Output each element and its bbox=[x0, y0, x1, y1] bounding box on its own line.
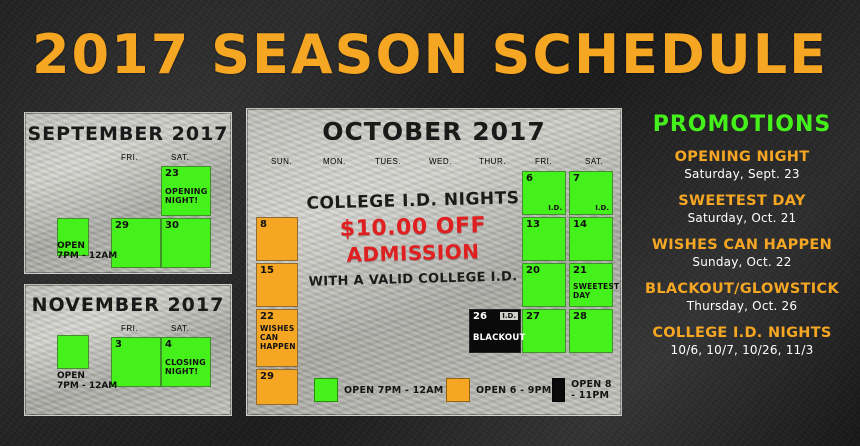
october-cell-14[interactable]: 14 bbox=[569, 217, 613, 261]
day-number: 14 bbox=[573, 219, 587, 230]
id-night-tag: I.D. bbox=[548, 204, 562, 212]
september-cell-30[interactable]: 30 bbox=[161, 218, 211, 268]
october-title: OCTOBER 2017 bbox=[247, 117, 621, 146]
legend-label-black: OPEN 8 - 11PM bbox=[571, 379, 612, 401]
day-number: 4 bbox=[165, 339, 172, 350]
october-cell-15[interactable]: 15 bbox=[256, 263, 298, 307]
september-open-label: OPEN 7PM - 12AM bbox=[57, 241, 117, 261]
october-cell-27[interactable]: 27 bbox=[522, 309, 566, 353]
october-dow-sat: SAT. bbox=[585, 157, 603, 166]
day-note: BLACKOUT bbox=[473, 334, 518, 343]
legend-item-green: OPEN 7PM - 12AM bbox=[314, 378, 443, 402]
promotion-date: Saturday, Sept. 23 bbox=[630, 167, 854, 182]
promotion-date: 10/6, 10/7, 10/26, 11/3 bbox=[630, 343, 854, 358]
promotion-name: COLLEGE I.D. NIGHTS bbox=[630, 325, 854, 342]
day-number: 6 bbox=[526, 173, 533, 184]
legend-swatch-orange-icon bbox=[446, 378, 470, 402]
id-night-tag: I.D. bbox=[595, 204, 609, 212]
day-number: 30 bbox=[165, 220, 179, 231]
promotion-item: OPENING NIGHT Saturday, Sept. 23 bbox=[630, 149, 854, 182]
october-cell-28[interactable]: 28 bbox=[569, 309, 613, 353]
promotion-name: BLACKOUT/GLOWSTICK bbox=[630, 281, 854, 298]
promotions-section: PROMOTIONS OPENING NIGHT Saturday, Sept.… bbox=[630, 112, 854, 369]
november-cell-3[interactable]: 3 bbox=[111, 337, 161, 387]
october-dow-fri: FRI. bbox=[535, 157, 552, 166]
november-panel: NOVEMBER 2017 FRI. SAT. 3 4 CLOSING NIGH… bbox=[24, 284, 232, 416]
october-cell-26[interactable]: 26 I.D. BLACKOUT bbox=[469, 309, 521, 353]
day-number: 20 bbox=[526, 265, 540, 276]
day-note: OPENING NIGHT! bbox=[165, 187, 208, 205]
promotion-item: BLACKOUT/GLOWSTICK Thursday, Oct. 26 bbox=[630, 281, 854, 314]
day-number: 23 bbox=[165, 168, 179, 179]
legend-swatch-green-icon bbox=[314, 378, 338, 402]
day-number: 3 bbox=[115, 339, 122, 350]
promotion-date: Thursday, Oct. 26 bbox=[630, 299, 854, 314]
october-cell-22[interactable]: 22 WISHES CAN HAPPEN bbox=[256, 309, 298, 367]
promotion-date: Saturday, Oct. 21 bbox=[630, 211, 854, 226]
day-number: 21 bbox=[573, 265, 587, 276]
page-title: 2017 SEASON SCHEDULE bbox=[0, 28, 860, 82]
october-dow-mon: MON. bbox=[323, 157, 346, 166]
september-cell-23[interactable]: 23 OPENING NIGHT! bbox=[161, 166, 211, 216]
september-dow-sat: SAT. bbox=[171, 153, 189, 162]
day-number: 15 bbox=[260, 265, 274, 276]
november-cell-blank[interactable] bbox=[57, 335, 89, 369]
september-title: SEPTEMBER 2017 bbox=[25, 123, 231, 145]
legend-item-orange: OPEN 6 - 9PM bbox=[446, 378, 551, 402]
legend-swatch-black-icon bbox=[552, 378, 565, 402]
legend-item-black: OPEN 8 - 11PM bbox=[552, 378, 612, 402]
day-number: 8 bbox=[260, 219, 267, 230]
promotion-name: OPENING NIGHT bbox=[630, 149, 854, 166]
poster-canvas: 2017 SEASON SCHEDULE SEPTEMBER 2017 FRI.… bbox=[0, 0, 860, 446]
day-note: SWEETEST DAY bbox=[573, 282, 610, 300]
id-night-tag: I.D. bbox=[500, 312, 518, 320]
day-number: 7 bbox=[573, 173, 580, 184]
legend-label-green: OPEN 7PM - 12AM bbox=[344, 385, 443, 396]
october-cell-6[interactable]: 6 I.D. bbox=[522, 171, 566, 215]
promotion-name: SWEETEST DAY bbox=[630, 193, 854, 210]
day-number: 26 bbox=[473, 311, 487, 322]
day-number: 22 bbox=[260, 311, 274, 322]
legend: OPEN 7PM - 12AM OPEN 6 - 9PM OPEN 8 - 11… bbox=[256, 378, 612, 404]
day-note: WISHES CAN HAPPEN bbox=[260, 324, 295, 351]
september-panel: SEPTEMBER 2017 FRI. SAT. 23 OPENING NIGH… bbox=[24, 112, 232, 274]
november-title: NOVEMBER 2017 bbox=[25, 294, 231, 316]
october-cell-8[interactable]: 8 bbox=[256, 217, 298, 261]
discount-condition: WITH A VALID COLLEGE I.D. bbox=[303, 269, 523, 290]
day-number: 29 bbox=[115, 220, 129, 231]
october-cell-21[interactable]: 21 SWEETEST DAY bbox=[569, 263, 613, 307]
october-center-promo: COLLEGE I.D. NIGHTS $10.00 OFF ADMISSION… bbox=[303, 191, 523, 287]
october-cell-13[interactable]: 13 bbox=[522, 217, 566, 261]
october-cell-7[interactable]: 7 I.D. bbox=[569, 171, 613, 215]
day-number: 28 bbox=[573, 311, 587, 322]
october-cell-20[interactable]: 20 bbox=[522, 263, 566, 307]
september-dow-fri: FRI. bbox=[121, 153, 138, 162]
discount-subject: ADMISSION bbox=[303, 238, 524, 268]
promotion-item: SWEETEST DAY Saturday, Oct. 21 bbox=[630, 193, 854, 226]
september-cell-29[interactable]: 29 bbox=[111, 218, 161, 268]
october-dow-thur: THUR. bbox=[479, 157, 506, 166]
november-open-label: OPEN 7PM - 12AM bbox=[57, 371, 117, 391]
promotions-heading: PROMOTIONS bbox=[630, 112, 854, 137]
october-dow-wed: WED. bbox=[429, 157, 452, 166]
november-dow-sat: SAT. bbox=[171, 324, 189, 333]
november-dow-fri: FRI. bbox=[121, 324, 138, 333]
day-number: 27 bbox=[526, 311, 540, 322]
day-note: CLOSING NIGHT! bbox=[165, 358, 208, 376]
college-id-headline: COLLEGE I.D. NIGHTS bbox=[303, 188, 523, 214]
promotion-item: COLLEGE I.D. NIGHTS 10/6, 10/7, 10/26, 1… bbox=[630, 325, 854, 358]
november-cell-4[interactable]: 4 CLOSING NIGHT! bbox=[161, 337, 211, 387]
promotion-item: WISHES CAN HAPPEN Sunday, Oct. 22 bbox=[630, 237, 854, 270]
promotion-date: Sunday, Oct. 22 bbox=[630, 255, 854, 270]
promotion-name: WISHES CAN HAPPEN bbox=[630, 237, 854, 254]
legend-label-orange: OPEN 6 - 9PM bbox=[476, 385, 551, 396]
october-dow-sun: SUN. bbox=[271, 157, 292, 166]
october-panel: OCTOBER 2017 SUN. MON. TUES. WED. THUR. … bbox=[246, 108, 622, 416]
day-number: 13 bbox=[526, 219, 540, 230]
october-dow-tues: TUES. bbox=[375, 157, 401, 166]
